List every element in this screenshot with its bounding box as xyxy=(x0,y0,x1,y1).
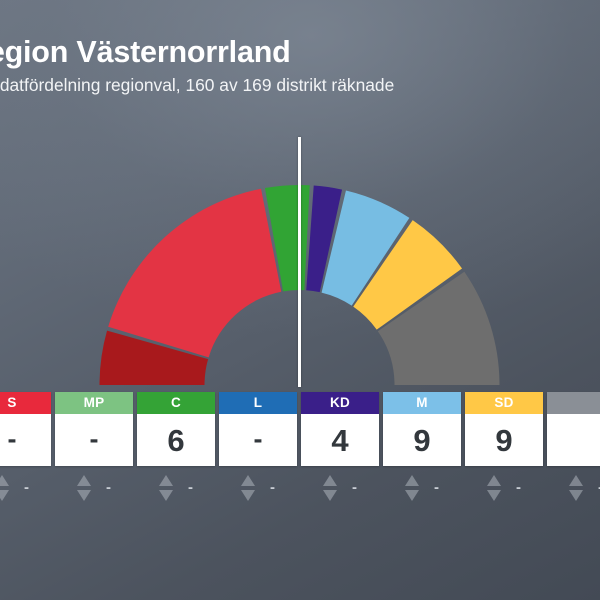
party-delta-value-mp: - xyxy=(106,480,111,495)
donut-segment-kd xyxy=(306,186,342,293)
donut-segment-v xyxy=(100,331,209,385)
party-delta-c: - xyxy=(137,473,215,503)
party-card-header-vr xyxy=(547,392,600,414)
donut-segment-övr xyxy=(378,272,500,385)
party-card-header-c: C xyxy=(137,392,215,414)
party-card-header-mp: MP xyxy=(55,392,133,414)
chart-center-divider xyxy=(298,137,301,387)
party-seat-count-kd: 4 xyxy=(331,425,348,456)
page-title: Region Västernorrland xyxy=(0,36,600,68)
party-seat-count-c: 6 xyxy=(167,425,184,456)
party-card-mp[interactable]: MP- xyxy=(55,392,133,466)
party-delta-value-l: - xyxy=(270,480,275,495)
party-card-body-s: - xyxy=(0,414,51,466)
up-down-arrow-icon xyxy=(0,475,10,501)
party-delta-value-c: - xyxy=(188,480,193,495)
party-card-sd[interactable]: SD9 xyxy=(465,392,543,466)
party-delta-value-s: - xyxy=(24,480,29,495)
party-delta-m: - xyxy=(383,473,461,503)
party-delta-value-sd: - xyxy=(516,480,521,495)
up-down-arrow-icon xyxy=(405,475,420,501)
party-card-body-l: - xyxy=(219,414,297,466)
party-delta-l: - xyxy=(219,473,297,503)
party-card-m[interactable]: M9 xyxy=(383,392,461,466)
party-card-kd[interactable]: KD4 xyxy=(301,392,379,466)
up-down-arrow-icon xyxy=(323,475,338,501)
up-down-arrow-icon xyxy=(487,475,502,501)
party-seat-count-s: - xyxy=(8,426,17,453)
party-delta-sd: - xyxy=(465,473,543,503)
up-down-arrow-icon xyxy=(569,475,584,501)
party-card-l[interactable]: L- xyxy=(219,392,297,466)
up-down-arrow-icon xyxy=(241,475,256,501)
party-card-body-sd: 9 xyxy=(465,414,543,466)
party-card-c[interactable]: C6 xyxy=(137,392,215,466)
party-seat-count-m: 9 xyxy=(413,425,430,456)
party-card-body-c: 6 xyxy=(137,414,215,466)
election-result-graphic: Region Västernorrland Mandatfördelning r… xyxy=(0,0,600,600)
donut-segment-c xyxy=(265,185,310,291)
party-card-s[interactable]: S- xyxy=(0,392,51,466)
party-card-body-vr xyxy=(547,414,600,466)
party-delta-s: - xyxy=(0,473,51,503)
party-seat-count-l: - xyxy=(254,426,263,453)
party-card-vr[interactable] xyxy=(547,392,600,466)
donut-segment-s xyxy=(108,189,281,358)
donut-segment-sd xyxy=(353,220,462,330)
party-card-header-s: S xyxy=(0,392,51,414)
party-seat-count-mp: - xyxy=(90,426,99,453)
party-card-header-sd: SD xyxy=(465,392,543,414)
header: Region Västernorrland Mandatfördelning r… xyxy=(0,0,600,95)
party-card-header-kd: KD xyxy=(301,392,379,414)
up-down-arrow-icon xyxy=(159,475,174,501)
party-card-header-m: M xyxy=(383,392,461,414)
up-down-arrow-icon xyxy=(77,475,92,501)
party-card-row: S-MP-C6L-KD4M9SD9 xyxy=(0,392,600,466)
party-delta-value-m: - xyxy=(434,480,439,495)
party-card-header-l: L xyxy=(219,392,297,414)
party-seat-count-sd: 9 xyxy=(495,425,512,456)
party-delta-kd: - xyxy=(301,473,379,503)
party-card-body-mp: - xyxy=(55,414,133,466)
donut-segment-m xyxy=(322,190,410,305)
party-card-body-kd: 4 xyxy=(301,414,379,466)
party-delta-vr: - xyxy=(547,473,600,503)
party-delta-row: -------- xyxy=(0,473,600,503)
party-delta-value-kd: - xyxy=(352,480,357,495)
party-delta-mp: - xyxy=(55,473,133,503)
page-subtitle: Mandatfördelning regionval, 160 av 169 d… xyxy=(0,76,600,95)
party-card-body-m: 9 xyxy=(383,414,461,466)
